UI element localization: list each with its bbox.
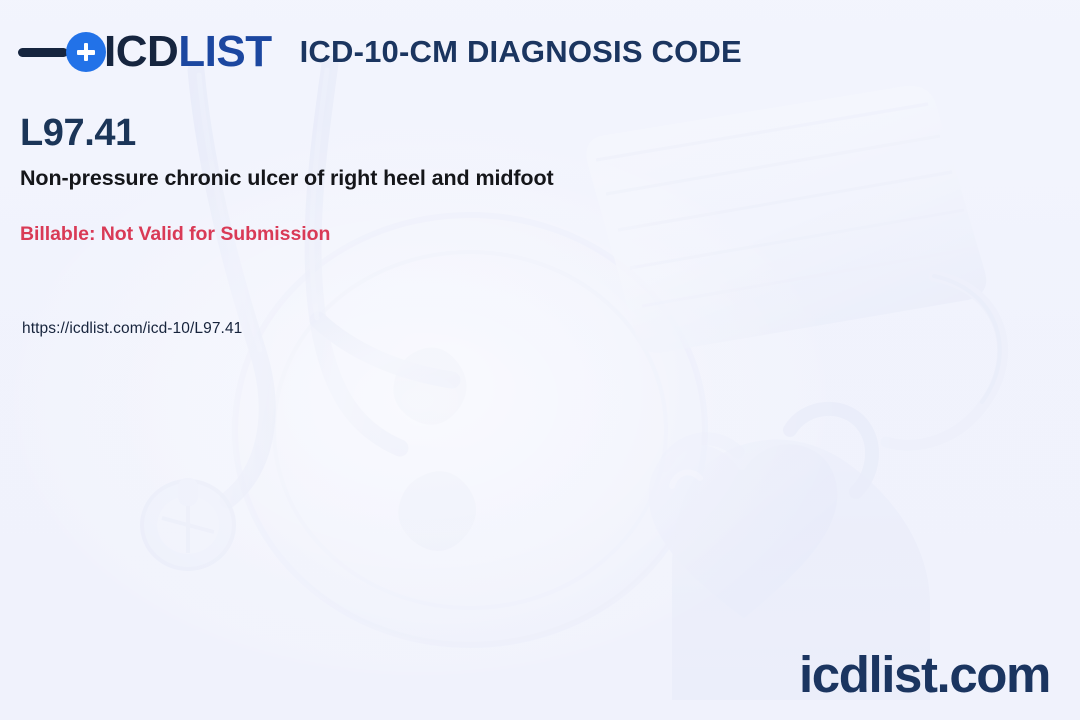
header: ICDLIST ICD-10-CM DIAGNOSIS CODE	[18, 26, 742, 78]
source-url[interactable]: https://icdlist.com/icd-10/L97.41	[22, 320, 242, 338]
billable-status-badge: Billable: Not Valid for Submission	[20, 223, 330, 246]
background-medical-photo	[0, 0, 1080, 720]
logo-word-icd: ICD	[104, 27, 178, 76]
diagnosis-code: L97.41	[20, 114, 136, 154]
background-wash-overlay	[0, 0, 1080, 720]
plus-circle-icon	[66, 32, 106, 72]
page-title: ICD-10-CM DIAGNOSIS CODE	[300, 34, 742, 70]
dash-icon	[18, 48, 68, 57]
icdlist-logo[interactable]: ICDLIST	[18, 26, 272, 78]
site-watermark: icdlist.com	[799, 649, 1050, 700]
icd-code-card: ICDLIST ICD-10-CM DIAGNOSIS CODE L97.41 …	[0, 0, 1080, 720]
diagnosis-description: Non-pressure chronic ulcer of right heel…	[20, 166, 554, 192]
logo-word-list: LIST	[178, 27, 271, 76]
